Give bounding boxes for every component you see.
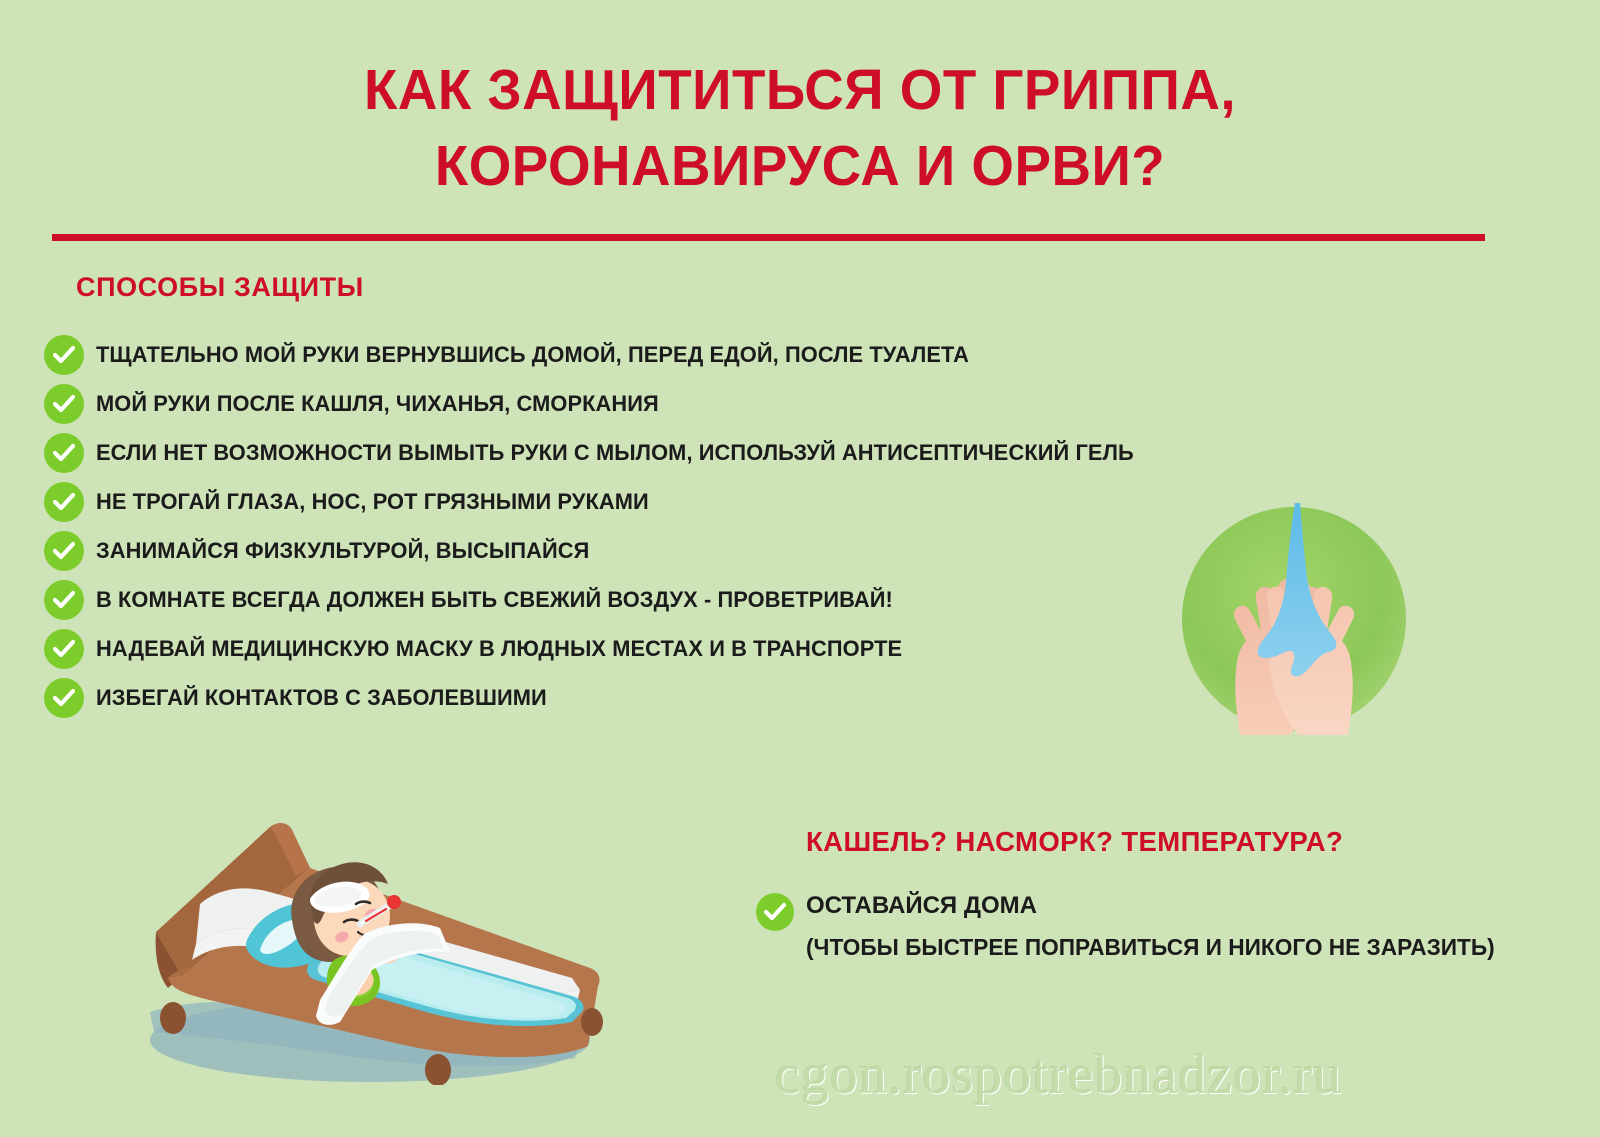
- list-item-label: ИЗБЕГАЙ КОНТАКТОВ С ЗАБОЛЕВШИМИ: [96, 685, 547, 711]
- list-item: ЕСЛИ НЕТ ВОЗМОЖНОСТИ ВЫМЫТЬ РУКИ С МЫЛОМ…: [44, 428, 1244, 477]
- list-item-label: В КОМНАТЕ ВСЕГДА ДОЛЖЕН БЫТЬ СВЕЖИЙ ВОЗД…: [96, 587, 893, 613]
- list-item-label: ЕСЛИ НЕТ ВОЗМОЖНОСТИ ВЫМЫТЬ РУКИ С МЫЛОМ…: [96, 440, 1134, 466]
- list-item: ИЗБЕГАЙ КОНТАКТОВ С ЗАБОЛЕВШИМИ: [44, 673, 1244, 722]
- sick-person-in-bed-illustration: [120, 800, 610, 1085]
- list-item-label: ЗАНИМАЙСЯ ФИЗКУЛЬТУРОЙ, ВЫСЫПАЙСЯ: [96, 538, 589, 564]
- list-item: В КОМНАТЕ ВСЕГДА ДОЛЖЕН БЫТЬ СВЕЖИЙ ВОЗД…: [44, 575, 1244, 624]
- check-circle-icon: [44, 335, 84, 375]
- check-circle-icon: [44, 629, 84, 669]
- list-item-label: НАДЕВАЙ МЕДИЦИНСКУЮ МАСКУ В ЛЮДНЫХ МЕСТА…: [96, 636, 902, 662]
- check-circle-icon: [44, 482, 84, 522]
- washing-hands-illustration: [1178, 503, 1410, 735]
- list-item: НАДЕВАЙ МЕДИЦИНСКУЮ МАСКУ В ЛЮДНЫХ МЕСТА…: [44, 624, 1244, 673]
- stay-home-advice: ОСТАВАЙСЯ ДОМА (ЧТОБЫ БЫСТРЕЕ ПОПРАВИТЬС…: [756, 886, 1505, 968]
- list-item: ЗАНИМАЙСЯ ФИЗКУЛЬТУРОЙ, ВЫСЫПАЙСЯ: [44, 526, 1244, 575]
- list-item-label: НЕ ТРОГАЙ ГЛАЗА, НОС, РОТ ГРЯЗНЫМИ РУКАМ…: [96, 489, 649, 515]
- check-circle-icon: [44, 580, 84, 620]
- list-item: МОЙ РУКИ ПОСЛЕ КАШЛЯ, ЧИХАНЬЯ, СМОРКАНИЯ: [44, 379, 1244, 428]
- poster-canvas: КАК ЗАЩИТИТЬСЯ ОТ ГРИППА, КОРОНАВИРУСА И…: [0, 0, 1600, 1137]
- protection-methods-list: ТЩАТЕЛЬНО МОЙ РУКИ ВЕРНУВШИСЬ ДОМОЙ, ПЕР…: [44, 330, 1244, 722]
- site-watermark: cgon.rospotrebnadzor.ru: [775, 1043, 1342, 1107]
- list-item-label: ТЩАТЕЛЬНО МОЙ РУКИ ВЕРНУВШИСЬ ДОМОЙ, ПЕР…: [96, 342, 969, 368]
- stay-home-sub-label: (ЧТОБЫ БЫСТРЕЕ ПОПРАВИТЬСЯ И НИКОГО НЕ З…: [806, 926, 1495, 968]
- poster-title: КАК ЗАЩИТИТЬСЯ ОТ ГРИППА, КОРОНАВИРУСА И…: [0, 52, 1600, 204]
- list-item: НЕ ТРОГАЙ ГЛАЗА, НОС, РОТ ГРЯЗНЫМИ РУКАМ…: [44, 477, 1244, 526]
- symptoms-heading: КАШЕЛЬ? НАСМОРК? ТЕМПЕРАТУРА?: [806, 826, 1343, 858]
- check-circle-icon: [44, 384, 84, 424]
- title-line-1: КАК ЗАЩИТИТЬСЯ ОТ ГРИППА,: [32, 52, 1568, 128]
- check-circle-icon: [44, 433, 84, 473]
- section-heading-protection: СПОСОБЫ ЗАЩИТЫ: [76, 272, 364, 303]
- stay-home-main-label: ОСТАВАЙСЯ ДОМА: [806, 886, 1505, 926]
- list-item: ТЩАТЕЛЬНО МОЙ РУКИ ВЕРНУВШИСЬ ДОМОЙ, ПЕР…: [44, 330, 1244, 379]
- check-circle-icon: [756, 893, 794, 931]
- check-circle-icon: [44, 678, 84, 718]
- list-item-label: МОЙ РУКИ ПОСЛЕ КАШЛЯ, ЧИХАНЬЯ, СМОРКАНИЯ: [96, 391, 659, 417]
- title-divider: [52, 234, 1485, 241]
- title-line-2: КОРОНАВИРУСА И ОРВИ?: [32, 128, 1568, 204]
- check-circle-icon: [44, 531, 84, 571]
